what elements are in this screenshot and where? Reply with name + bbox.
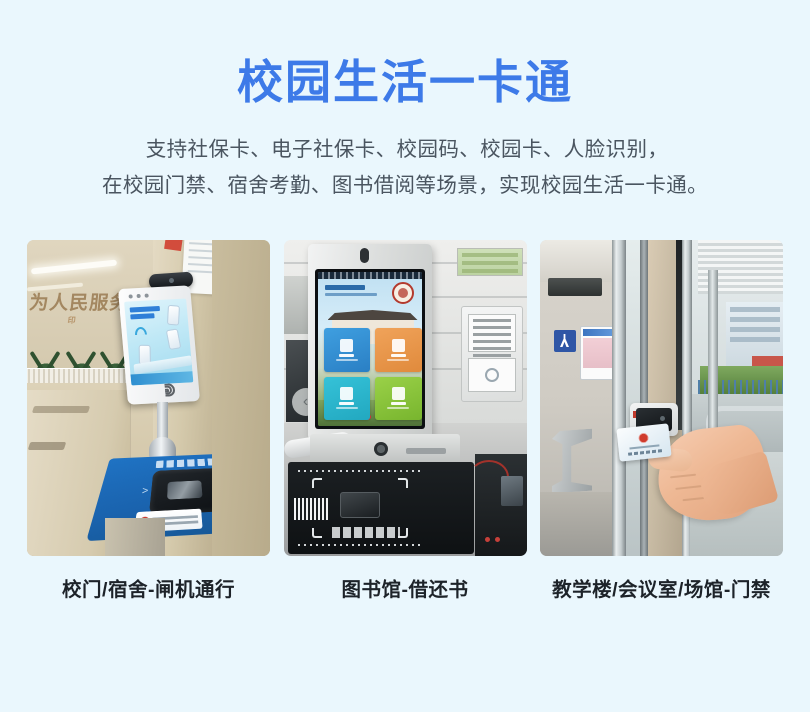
- screen-subtitle-text: [325, 293, 377, 296]
- card-reader-pad: [468, 358, 516, 392]
- receipt-slot: [406, 448, 446, 454]
- glass-pane-left: [626, 240, 640, 556]
- window-sign: [457, 248, 523, 276]
- panel-left-arrow-icon: >: [141, 485, 148, 496]
- barcode-strip: [294, 498, 328, 520]
- side-equipment: [475, 454, 527, 556]
- scenario-card-list: 为人民服务印: [27, 240, 783, 602]
- social-security-card: [616, 423, 671, 461]
- promo-page: 校园生活一卡通 支持社保卡、电子社保卡、校园码、校园卡、人脸识别， 在校园门禁、…: [0, 0, 810, 712]
- turnstile-pedestal: [105, 518, 165, 556]
- screen-top-strip: [318, 272, 422, 279]
- tray-brand-text: [332, 527, 400, 538]
- nfc-wave-icon: [164, 383, 187, 398]
- card-caption: 教学楼/会议室/场馆-门禁: [552, 573, 771, 602]
- book-on-tray: [340, 492, 380, 518]
- turnstile-slot-upper: [32, 406, 90, 413]
- tray-dotted-line-bottom: [298, 544, 420, 546]
- door-frame-center: [640, 240, 648, 556]
- side-display: [501, 476, 523, 506]
- tile-return[interactable]: [375, 328, 422, 372]
- wayfinding-sign-icon: [554, 330, 576, 352]
- wall-instruction-panel: [461, 306, 523, 402]
- school-emblem-icon: [392, 282, 414, 304]
- face-recognition-terminal: [118, 285, 200, 404]
- scenario-card-gate[interactable]: 为人民服务印: [27, 240, 270, 602]
- reader-status-led: [633, 411, 636, 418]
- tile-borrow[interactable]: [324, 328, 371, 372]
- panel-left-label: [111, 475, 142, 505]
- scenario-card-library[interactable]: ‹: [284, 240, 527, 602]
- national-emblem-icon: [638, 433, 649, 444]
- indoor-dark-panel: [548, 278, 602, 296]
- page-subtitle: 支持社保卡、电子社保卡、校园码、校园卡、人脸识别， 在校园门禁、宿舍考勤、图书借…: [35, 132, 775, 204]
- subtitle-line-1: 支持社保卡、电子社保卡、校园码、校园卡、人脸识别，: [35, 132, 775, 168]
- card-caption: 校门/宿舍-闸机通行: [62, 573, 235, 602]
- indoor-floor: [540, 492, 618, 556]
- door-access-card-reader-photo: [540, 240, 783, 556]
- scenario-card-door-access[interactable]: 教学楼/会议室/场馆-门禁: [540, 240, 783, 602]
- tray-dotted-line-top: [298, 470, 420, 472]
- subtitle-line-2: 在校园门禁、宿舍考勤、图书借阅等场景，实现校园生活一卡通。: [35, 168, 775, 204]
- terminal-screen: [124, 299, 193, 386]
- kiosk-menu-tiles: [324, 328, 422, 420]
- card-text-line-2: [628, 449, 662, 456]
- planter-fence: [27, 368, 133, 383]
- kiosk-head: [308, 244, 432, 440]
- kiosk-camera: [360, 248, 369, 263]
- tile-search[interactable]: [324, 377, 371, 421]
- indoor-ceiling: [540, 240, 616, 282]
- campus-gate-turnstile-photo: 为人民服务印: [27, 240, 270, 556]
- right-wall: [212, 240, 270, 556]
- status-led-1: [485, 537, 490, 542]
- page-title: 校园生活一卡通: [237, 58, 573, 106]
- book-placement-tray: [288, 462, 474, 554]
- wall-calligraphy: 为人民服务印: [27, 288, 131, 326]
- status-led-2: [495, 537, 500, 542]
- door-frame-left: [612, 240, 626, 556]
- kiosk-touchscreen: [315, 269, 425, 429]
- panel-header-text: [156, 458, 221, 468]
- tile-renew[interactable]: [375, 377, 422, 421]
- turnstile-slot-lower: [28, 442, 67, 450]
- library-self-service-kiosk-photo: ‹: [284, 240, 527, 556]
- card-caption: 图书馆-借还书: [342, 573, 469, 602]
- scanner-lens-icon: [374, 442, 388, 456]
- instruction-text-block: [468, 314, 516, 352]
- screen-title-text: [325, 285, 365, 290]
